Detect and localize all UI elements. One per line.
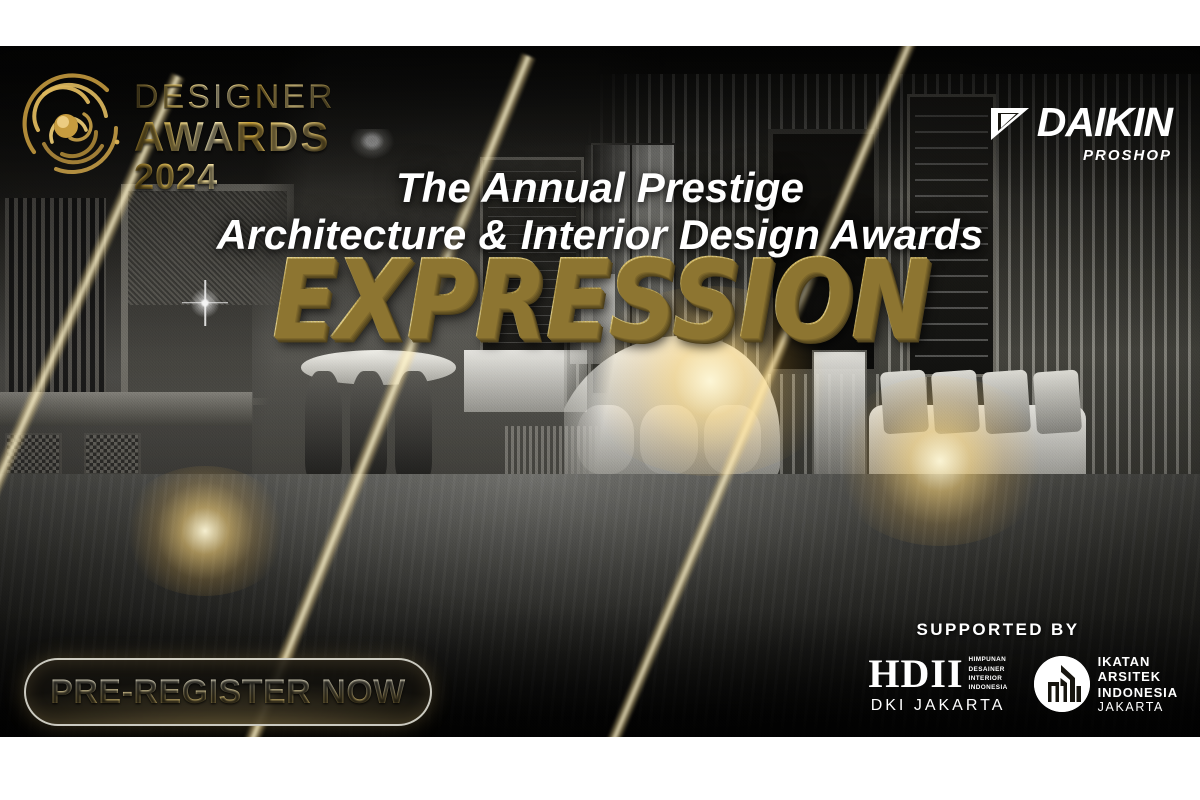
photo-dining-chair: [395, 371, 432, 482]
hero-banner: DESIGNER AWARDS 2024 DAIKIN PROSHOP The …: [0, 46, 1200, 737]
photo-parapet: [0, 392, 253, 427]
theme-wordmark: EXPRESSION: [272, 236, 928, 362]
award-logo-line-designer: DESIGNER: [134, 80, 334, 114]
photo-pillow: [880, 369, 929, 434]
photo-chandelier: [350, 129, 394, 159]
award-logo-line-awards: AWARDS: [134, 116, 334, 158]
headline-line-1: The Annual Prestige: [0, 164, 1200, 211]
daikin-wordmark: DAIKIN: [1037, 102, 1172, 143]
hdii-logo[interactable]: HDII HIMPUNAN DESAINER INTERIOR INDONESI…: [868, 654, 1007, 715]
supported-by-title: SUPPORTED BY: [818, 620, 1178, 640]
banner-page: DESIGNER AWARDS 2024 DAIKIN PROSHOP The …: [0, 0, 1200, 800]
daikin-proshop-tagline: PROSHOP: [952, 147, 1172, 164]
hdii-descriptor-line-2: DESAINER: [969, 665, 1008, 674]
photo-wooden-chair: [812, 350, 867, 492]
pre-register-button[interactable]: PRE-REGISTER NOW: [24, 658, 432, 726]
hdii-descriptor-line-4: INDONESIA: [969, 683, 1008, 692]
iai-chapter: JAKARTA: [1098, 700, 1178, 715]
photo-pillow: [931, 369, 980, 434]
hdii-wordmark: HDII: [868, 654, 963, 694]
photo-pillow: [982, 369, 1031, 434]
supported-by-block: SUPPORTED BY HDII HIMPUNAN DESAINER INTE…: [818, 620, 1178, 715]
hdii-descriptor: HIMPUNAN DESAINER INTERIOR INDONESIA: [969, 655, 1008, 692]
hdii-logo-top: HDII HIMPUNAN DESAINER INTERIOR INDONESI…: [868, 654, 1007, 694]
hdii-descriptor-line-1: HIMPUNAN: [969, 655, 1008, 664]
iai-line-2: ARSITEK: [1098, 669, 1178, 684]
hdii-descriptor-line-3: INTERIOR: [969, 674, 1008, 683]
ikatan-arsitek-text: IKATAN ARSITEK INDONESIA JAKARTA: [1098, 654, 1178, 715]
hdii-chapter: DKI JAKARTA: [871, 697, 1006, 715]
theme-wordmark-block: EXPRESSION: [0, 246, 1200, 353]
photo-dining-chair: [350, 371, 387, 482]
ikatan-arsitek-logo[interactable]: IKATAN ARSITEK INDONESIA JAKARTA: [1034, 654, 1178, 715]
daikin-triangle-mark: [989, 104, 1031, 142]
daikin-logo: DAIKIN PROSHOP: [952, 102, 1172, 164]
daikin-logo-row: DAIKIN: [952, 102, 1172, 143]
photo-dining-chair: [305, 371, 342, 482]
photo-cushion: [577, 405, 634, 474]
photo-cushion: [640, 405, 697, 474]
photo-cushion: [704, 405, 761, 474]
pre-register-button-label: PRE-REGISTER NOW: [50, 673, 406, 712]
building-circle-icon: [1034, 656, 1090, 712]
photo-pillow: [1033, 369, 1082, 434]
supported-by-logos: HDII HIMPUNAN DESAINER INTERIOR INDONESI…: [818, 654, 1178, 715]
iai-line-3: INDONESIA: [1098, 685, 1178, 700]
iai-line-1: IKATAN: [1098, 654, 1178, 669]
